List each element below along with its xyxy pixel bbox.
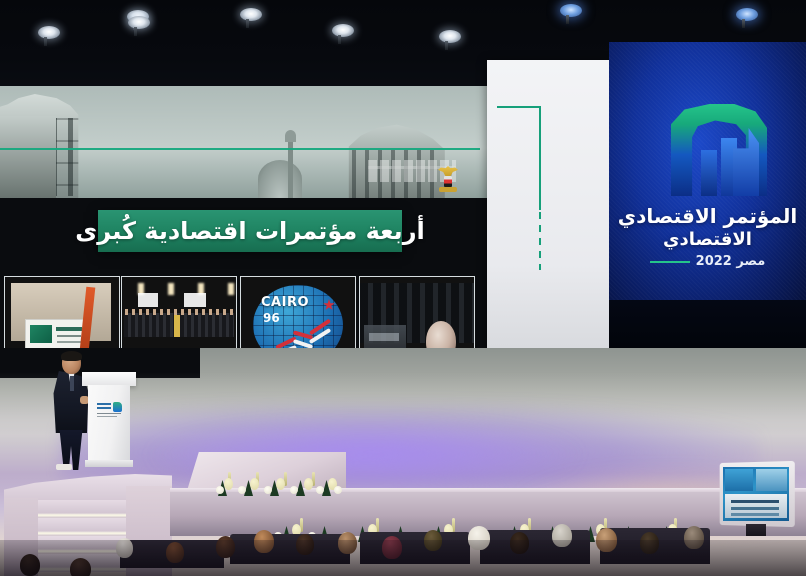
event-year-label: مصر 2022 — [696, 254, 766, 269]
monitor-screen — [723, 467, 789, 521]
cream-flower — [276, 478, 285, 490]
stage-light-icon — [240, 8, 262, 21]
minaret — [288, 138, 293, 198]
thumbnail-image-2015 — [121, 276, 237, 348]
thumbnail-image-2022 — [4, 276, 120, 348]
event-logo-text: المؤتمر الاقتصادي الاقتصادي مصر 2022 — [609, 204, 806, 269]
white-flower — [316, 486, 324, 494]
confidence-monitor — [718, 462, 794, 536]
podium-logo-line — [97, 416, 117, 417]
green-accent-line — [0, 148, 480, 150]
event-year-row: مصر 2022 — [609, 254, 806, 269]
monitor-panel-3 — [725, 494, 787, 518]
monitor-panel-2 — [756, 469, 787, 491]
panel-shadow-base — [609, 300, 806, 350]
podium-logo-line — [97, 407, 111, 409]
connector-dashed — [539, 212, 541, 270]
connector-horizontal — [497, 106, 541, 108]
connector-vertical — [539, 106, 541, 210]
podium-top — [82, 372, 136, 386]
timeline-connector — [487, 60, 609, 352]
backdrop-photo-band — [0, 86, 496, 198]
emblem-scroll — [439, 187, 457, 192]
white-divider-panel — [487, 60, 609, 352]
event-name: المؤتمر الاقتصادي — [609, 204, 806, 228]
floral-arrangement — [212, 470, 342, 496]
headline-text: أربعة مؤتمرات اقتصادية كُبرى — [75, 217, 424, 245]
egypt-eagle-emblem-icon — [437, 166, 459, 192]
growth-chart-graphic — [275, 307, 337, 348]
white-flower — [290, 486, 298, 494]
white-flower — [334, 486, 342, 494]
white-flower — [238, 486, 246, 494]
stage-light-icon — [736, 8, 758, 21]
delegate-in-gold-robe — [174, 315, 180, 337]
speaker-tie — [70, 376, 74, 391]
white-flower — [264, 486, 272, 494]
podium-logo-mark — [113, 402, 122, 412]
podium-logo-line — [97, 413, 121, 414]
podium-logo-line — [97, 403, 111, 405]
monitor-panel-1 — [725, 469, 753, 491]
cream-flower — [304, 478, 313, 490]
podium-logo-icon — [97, 402, 122, 419]
timeline-card[interactable]: المؤتمر الاقتصادي الكبير — [359, 276, 473, 348]
headline-banner: أربعة مؤتمرات اقتصادية كُبرى — [98, 210, 402, 252]
podium-body — [88, 385, 130, 463]
timeline-card[interactable]: مؤتمر مصر المستقبل — [121, 276, 235, 348]
audience-shadow — [0, 540, 806, 576]
conference-stage-screenshot: أربعة مؤتمرات اقتصادية كُبرى المؤتمر الا… — [0, 0, 806, 576]
backdrop-board-right — [184, 293, 206, 307]
podium-base — [85, 460, 133, 467]
historic-building-left-secondary — [0, 116, 56, 198]
stage-light-icon — [332, 24, 354, 37]
podium — [88, 372, 130, 466]
white-flower — [216, 486, 224, 494]
timeline-card[interactable]: المؤتمر الاقتصادي — [4, 276, 118, 348]
stage-light-icon — [128, 16, 150, 29]
egypt-flag-shield-icon — [444, 176, 452, 187]
timeline-card[interactable]: CAIRO 96 مؤتمر القاهرة الاقتصادي — [240, 276, 354, 348]
cream-flower — [250, 478, 259, 490]
stage-light-icon — [439, 30, 461, 43]
year-rule — [650, 261, 690, 263]
event-subtitle: الاقتصادي — [609, 229, 806, 250]
logo-bar-1 — [701, 150, 717, 196]
thumbnail-image-1982 — [359, 276, 475, 348]
stage-light-icon — [560, 4, 582, 17]
timeline-cards: المؤتمر الاقتصادي مؤتمر مصر المستقبل — [2, 276, 472, 348]
thumbnail-image-1996: CAIRO 96 — [240, 276, 356, 348]
archival-machinery — [364, 325, 406, 348]
cream-flower — [224, 478, 233, 490]
speaker-shoe — [56, 464, 72, 470]
event-logo-mark-icon — [671, 104, 767, 196]
event-logo-panel: المؤتمر الاقتصادي الاقتصادي مصر 2022 — [609, 42, 806, 308]
monitor-stand — [746, 524, 766, 536]
mosque-dome — [258, 160, 302, 198]
speaker-hair — [61, 351, 82, 361]
backdrop-board-left — [138, 293, 158, 307]
speaker-figure — [50, 352, 92, 462]
stage-light-icon — [38, 26, 60, 39]
